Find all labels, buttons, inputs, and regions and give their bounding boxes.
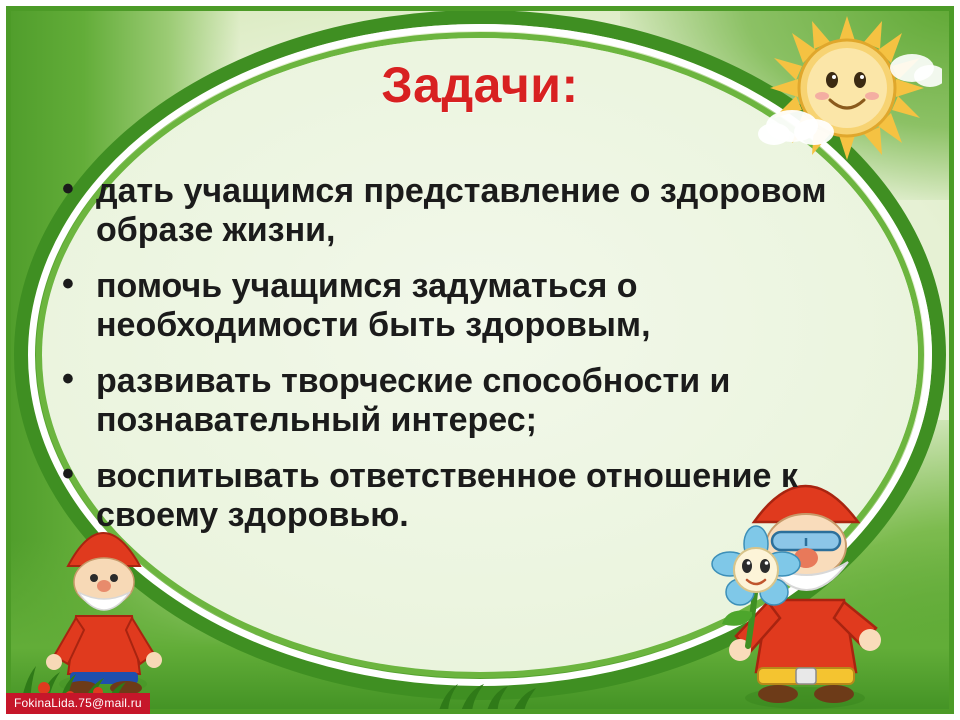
list-item: воспитывать ответственное отношение к св… <box>52 457 852 536</box>
objectives-list: дать учащимся представление о здоровом о… <box>52 172 852 552</box>
slide-content: Задачи: дать учащимся представление о зд… <box>0 0 960 720</box>
page-title: Задачи: <box>0 56 960 114</box>
watermark-email: FokinaLida.75@mail.ru <box>6 693 150 714</box>
list-item: развивать творческие способности и позна… <box>52 362 852 441</box>
list-item: дать учащимся представление о здоровом о… <box>52 172 852 251</box>
list-item: помочь учащимся задуматься о необходимос… <box>52 267 852 346</box>
slide: Задачи: дать учащимся представление о зд… <box>0 0 960 720</box>
